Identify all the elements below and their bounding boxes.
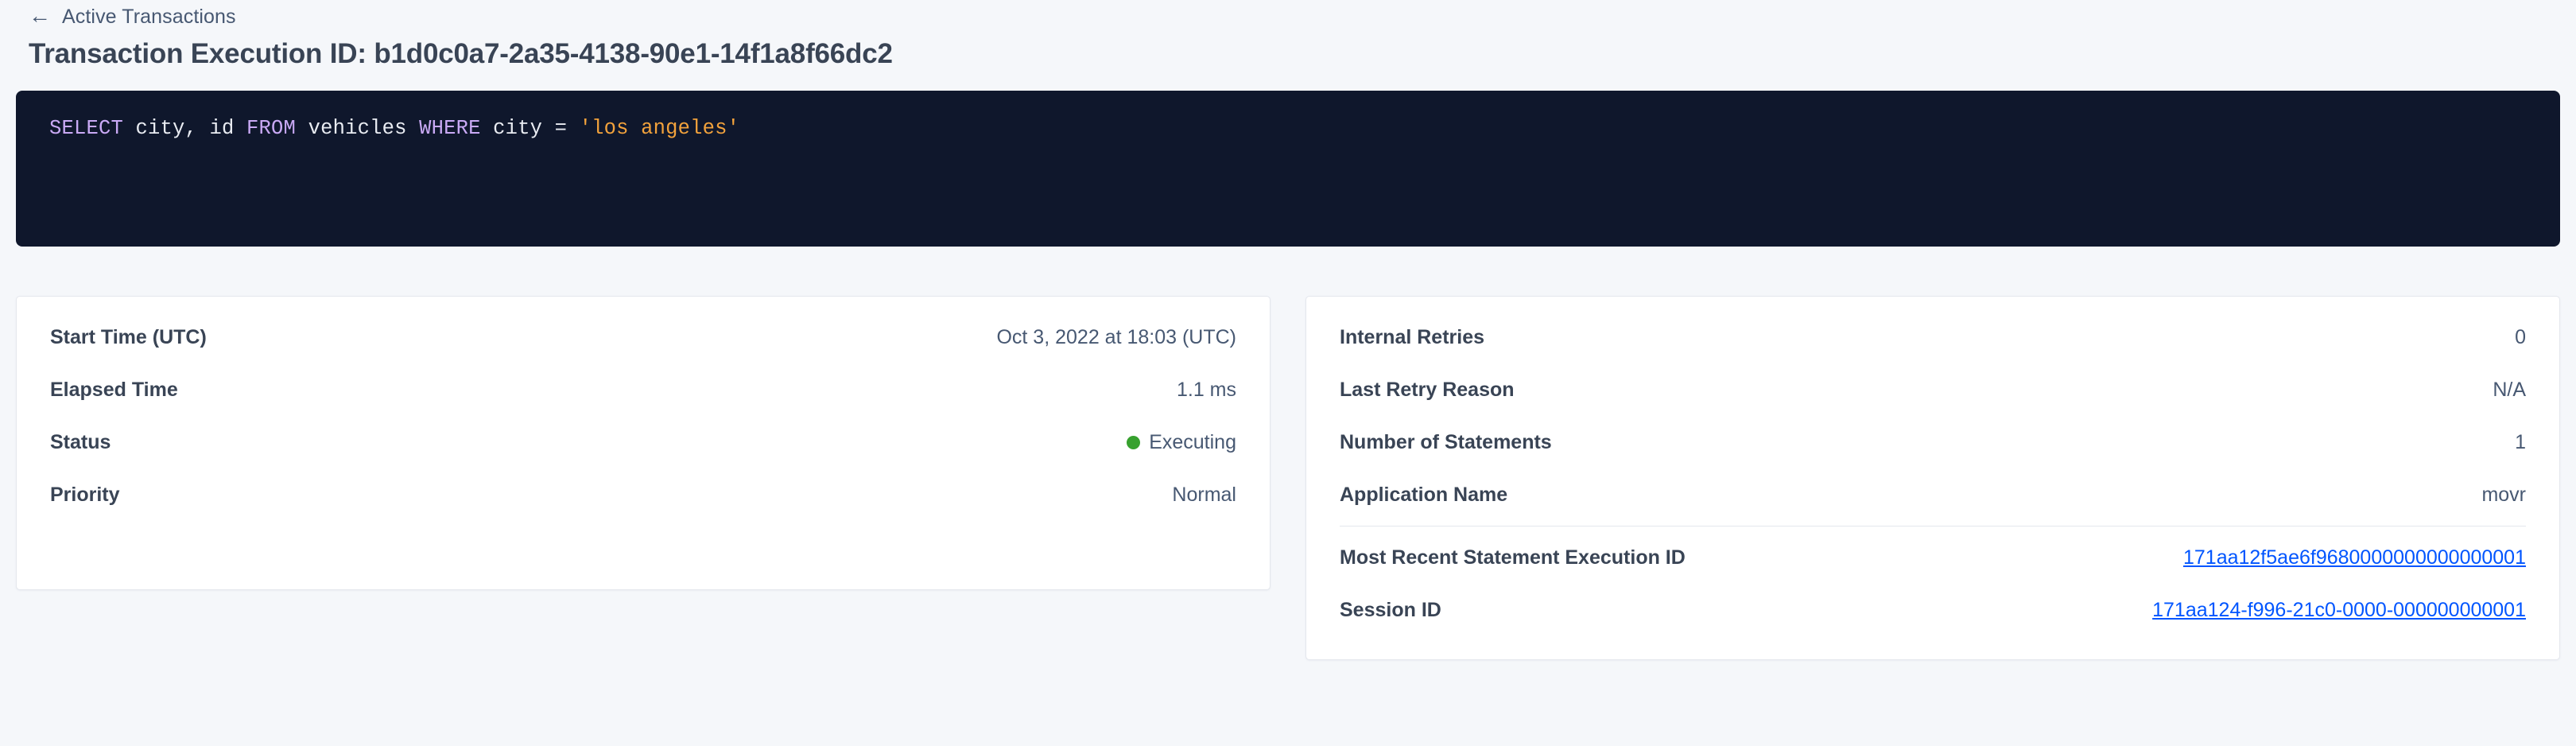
sql-keyword-from: FROM [246, 117, 296, 140]
detail-label: Priority [50, 484, 120, 507]
breadcrumb[interactable]: ← Active Transactions [16, 0, 2560, 30]
detail-value: 0 [2515, 326, 2526, 349]
status-dot-green-icon [1127, 436, 1140, 449]
detail-label: Start Time (UTC) [50, 326, 207, 349]
detail-row-elapsed-time: Elapsed Time 1.1 ms [50, 363, 1236, 416]
detail-label: Elapsed Time [50, 379, 178, 402]
detail-row-application-name: Application Name movr [1340, 468, 2526, 521]
session-id-link[interactable]: 171aa124-f996-21c0-0000-000000000001 [2152, 599, 2526, 622]
detail-row-start-time: Start Time (UTC) Oct 3, 2022 at 18:03 (U… [50, 311, 1236, 363]
detail-row-session-id: Session ID 171aa124-f996-21c0-0000-00000… [1340, 584, 2526, 636]
sql-predicate: city = [481, 117, 580, 140]
detail-label: Session ID [1340, 599, 1441, 622]
sql-statement-block: SELECT city, id FROM vehicles WHERE city… [16, 91, 2560, 247]
detail-value: 1 [2515, 431, 2526, 454]
detail-label: Number of Statements [1340, 431, 1552, 454]
detail-label: Last Retry Reason [1340, 379, 1515, 402]
detail-row-priority: Priority Normal [50, 468, 1236, 521]
details-cards: Start Time (UTC) Oct 3, 2022 at 18:03 (U… [16, 296, 2560, 660]
breadcrumb-link-active-transactions[interactable]: Active Transactions [62, 6, 236, 29]
detail-row-internal-retries: Internal Retries 0 [1340, 311, 2526, 363]
detail-label: Internal Retries [1340, 326, 1484, 349]
sql-table: vehicles [296, 117, 419, 140]
detail-value: N/A [2493, 379, 2526, 402]
detail-label: Most Recent Statement Execution ID [1340, 546, 1686, 569]
detail-row-last-retry-reason: Last Retry Reason N/A [1340, 363, 2526, 416]
transaction-metadata-card: Internal Retries 0 Last Retry Reason N/A… [1305, 296, 2560, 660]
transaction-details-page: ← Active Transactions Transaction Execut… [0, 0, 2576, 746]
card-divider [1340, 526, 2526, 526]
detail-value: 1.1 ms [1177, 379, 1236, 402]
detail-label: Application Name [1340, 484, 1507, 507]
detail-row-status: Status Executing [50, 416, 1236, 468]
sql-keyword-select: SELECT [49, 117, 123, 140]
detail-value: movr [2481, 484, 2526, 507]
page-title: Transaction Execution ID: b1d0c0a7-2a35-… [16, 30, 2560, 70]
sql-keyword-where: WHERE [419, 117, 481, 140]
transaction-summary-card: Start Time (UTC) Oct 3, 2022 at 18:03 (U… [16, 296, 1271, 590]
detail-value: Normal [1172, 484, 1236, 507]
sql-columns: city, id [123, 117, 246, 140]
detail-label: Status [50, 431, 111, 454]
status-text: Executing [1149, 431, 1236, 454]
detail-row-most-recent-statement-execution-id: Most Recent Statement Execution ID 171aa… [1340, 531, 2526, 584]
arrow-left-icon[interactable]: ← [29, 5, 51, 27]
statement-execution-id-link[interactable]: 171aa12f5ae6f9680000000000000001 [2183, 546, 2526, 569]
status-badge: Executing [1127, 431, 1236, 454]
detail-value: Oct 3, 2022 at 18:03 (UTC) [996, 326, 1236, 349]
sql-string-literal: 'los angeles' [580, 117, 740, 140]
detail-row-number-of-statements: Number of Statements 1 [1340, 416, 2526, 468]
